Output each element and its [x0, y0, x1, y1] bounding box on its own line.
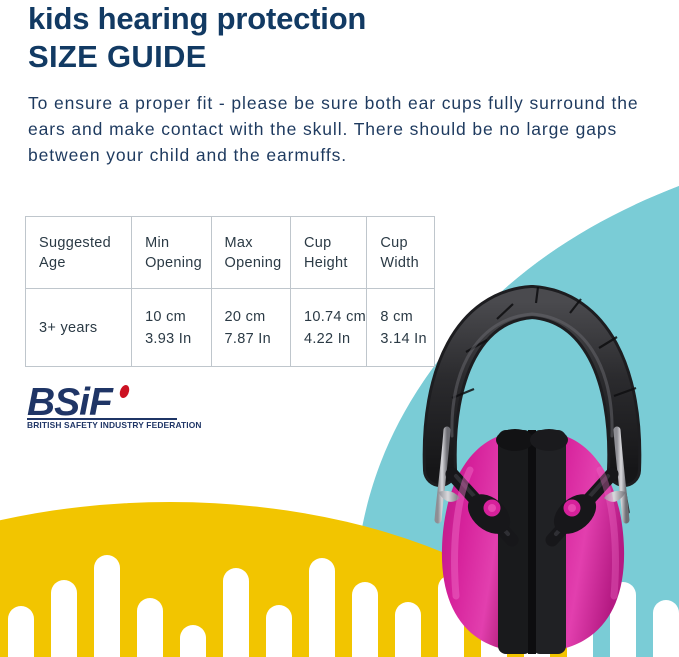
header-line-1: Cup [380, 233, 434, 253]
header-line-2: Opening [145, 253, 210, 273]
header-line-1: Min [145, 233, 210, 253]
cell-cup-height: 10.74 cm 4.22 In [290, 289, 366, 367]
cell-suggested-age: 3+ years [26, 289, 132, 367]
value-cm: 10 cm [145, 306, 210, 328]
page-title: kids hearing protection SIZE GUIDE [28, 0, 588, 76]
cell-min-opening: 10 cm 3.93 In [132, 289, 211, 367]
cell-max-opening: 20 cm 7.87 In [211, 289, 290, 367]
table-header-row: Suggested Age Min Opening Max Opening Cu… [26, 217, 435, 289]
size-guide-page: kids hearing protection SIZE GUIDE To en… [0, 0, 679, 657]
column-header-min-opening: Min Opening [132, 217, 211, 289]
cell-cup-width: 8 cm 3.14 In [367, 289, 435, 367]
header-line-2: Height [304, 253, 366, 273]
column-header-cup-height: Cup Height [290, 217, 366, 289]
bsif-tagline: BRITISH SAFETY INDUSTRY FEDERATION [27, 420, 179, 430]
bsif-wordmark: BSiF [27, 386, 179, 420]
value-cm: 10.74 cm [304, 306, 366, 328]
table-row: 3+ years 10 cm 3.93 In 20 cm 7.87 In 10.… [26, 289, 435, 367]
value-cm: 8 cm [380, 306, 434, 328]
header-line-1: Max [225, 233, 290, 253]
header-line-1: Cup [304, 233, 366, 253]
header-line-2: Width [380, 253, 434, 273]
bsif-logo: BSiF BRITISH SAFETY INDUSTRY FEDERATION [27, 386, 179, 432]
column-header-suggested-age: Suggested Age [26, 217, 132, 289]
value-in: 3.93 In [145, 328, 210, 350]
table-body: 3+ years 10 cm 3.93 In 20 cm 7.87 In 10.… [26, 289, 435, 367]
value-in: 3.14 In [380, 328, 434, 350]
headline-primary: kids hearing protection [28, 0, 588, 38]
header-line-1: Suggested [39, 233, 131, 253]
column-header-max-opening: Max Opening [211, 217, 290, 289]
column-header-cup-width: Cup Width [367, 217, 435, 289]
header-line-2: Age [39, 253, 131, 273]
value-in: 4.22 In [304, 328, 366, 350]
table-header: Suggested Age Min Opening Max Opening Cu… [26, 217, 435, 289]
intro-paragraph: To ensure a proper fit - please be sure … [28, 90, 648, 168]
value-in: 7.87 In [225, 328, 290, 350]
header-line-2: Opening [225, 253, 290, 273]
value-cm: 20 cm [225, 306, 290, 328]
headline-secondary: SIZE GUIDE [28, 38, 588, 76]
size-guide-table: Suggested Age Min Opening Max Opening Cu… [25, 216, 435, 367]
